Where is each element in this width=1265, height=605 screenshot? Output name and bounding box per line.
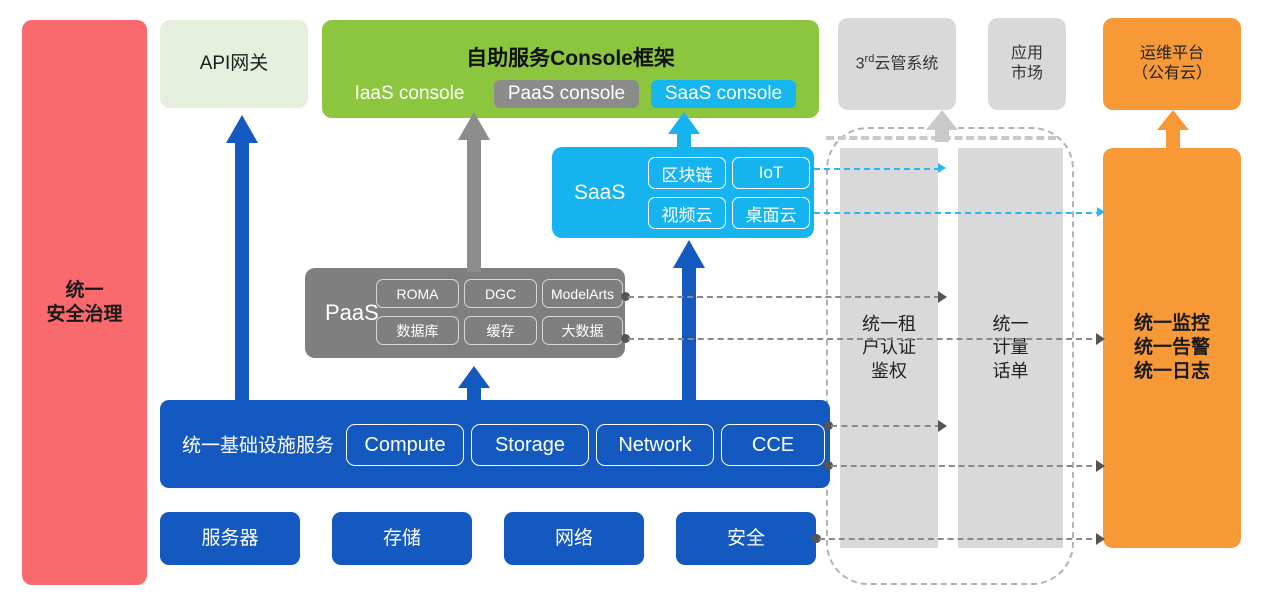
- paas-chip-dgc[interactable]: DGC: [464, 279, 537, 308]
- api-gateway-label: API网关: [200, 52, 269, 76]
- arrow-infra-to-api-gateway: [222, 115, 262, 405]
- paas-chip-database[interactable]: 数据库: [376, 316, 459, 345]
- third-party-cloud-mgmt-label: 3rd云管系统: [856, 53, 939, 74]
- unified-monitoring-label: 统一监控 统一告警 统一日志: [1134, 312, 1210, 383]
- dashed-flow-infra-to-tenant-auth: [831, 425, 941, 427]
- unified-infrastructure-label: 统一基础设施服务: [182, 431, 334, 458]
- infra-chip-compute[interactable]: Compute: [346, 424, 464, 466]
- paas-chip-cache[interactable]: 缓存: [464, 316, 537, 345]
- resource-box-server[interactable]: 服务器: [160, 512, 300, 565]
- app-market-box: 应用 市场: [988, 18, 1066, 110]
- ops-platform-box: 运维平台 （公有云）: [1103, 18, 1241, 110]
- saas-chip-video-cloud[interactable]: 视频云: [648, 197, 726, 229]
- cyan-flow-saas-to-ops-platform: [814, 212, 1102, 214]
- dashed-flow-infra-to-monitoring: [831, 465, 1102, 467]
- saas-console-chip[interactable]: SaaS console: [651, 80, 796, 108]
- api-gateway-box: API网关: [160, 20, 308, 108]
- dashed-flow-to-third-party: [826, 136, 1056, 140]
- paas-chip-bigdata[interactable]: 大数据: [542, 316, 623, 345]
- arrow-infra-to-saas: [669, 240, 709, 402]
- paas-layer-box: PaaS ROMA DGC ModelArts 数据库 缓存 大数据: [305, 268, 625, 358]
- saas-chip-desktop-cloud[interactable]: 桌面云: [732, 197, 810, 229]
- paas-chip-roma[interactable]: ROMA: [376, 279, 459, 308]
- self-service-console-frame: 自助服务Console框架 IaaS console PaaS console …: [322, 20, 819, 118]
- saas-layer-label: SaaS: [574, 181, 625, 205]
- infra-chip-storage[interactable]: Storage: [471, 424, 589, 466]
- cyan-flow-saas-to-tenant-auth: [814, 168, 940, 170]
- dashed-flow-paas-to-tenant-auth: [628, 296, 940, 298]
- ops-platform-label: 运维平台 （公有云）: [1132, 44, 1212, 84]
- unified-tenant-auth-column: 统一租 户认证 鉴权: [840, 148, 938, 548]
- infra-chip-cce[interactable]: CCE: [721, 424, 825, 466]
- unified-infrastructure-bar: 统一基础设施服务 Compute Storage Network CCE: [160, 400, 830, 488]
- app-market-label: 应用 市场: [1011, 44, 1043, 84]
- unified-metering-column: 统一 计量 话单: [958, 148, 1063, 548]
- dashed-arrowhead-paas-lower: [1096, 333, 1105, 345]
- paas-layer-label: PaaS: [325, 300, 379, 326]
- arrow-infra-to-paas: [455, 366, 493, 404]
- console-frame-title: 自助服务Console框架: [322, 42, 819, 72]
- resource-box-network[interactable]: 网络: [504, 512, 644, 565]
- arrow-paas-to-console: [454, 112, 494, 272]
- dashed-flow-paas-to-monitoring: [628, 338, 1102, 340]
- unified-security-governance-label: 统一 安全治理: [46, 279, 122, 327]
- saas-chip-blockchain[interactable]: 区块链: [648, 157, 726, 189]
- unified-metering-label: 统一 计量 话单: [993, 313, 1029, 383]
- dashed-flow-security-to-monitoring: [819, 538, 1102, 540]
- resource-box-security[interactable]: 安全: [676, 512, 816, 565]
- saas-layer-box: SaaS 区块链 IoT 视频云 桌面云: [552, 147, 814, 238]
- third-party-cloud-mgmt-box: 3rd云管系统: [838, 18, 956, 110]
- dashed-arrowhead-security: [1096, 533, 1105, 545]
- cyan-arrowhead-1: [938, 163, 946, 173]
- resource-box-storage[interactable]: 存储: [332, 512, 472, 565]
- unified-tenant-auth-label: 统一租 户认证 鉴权: [862, 313, 916, 383]
- dashed-arrowhead-infra-lower: [1096, 460, 1105, 472]
- architecture-diagram: 统一 安全治理 API网关 自助服务Console框架 IaaS console…: [0, 0, 1265, 605]
- saas-chip-iot[interactable]: IoT: [732, 157, 810, 189]
- cyan-arrowhead-2: [1097, 207, 1105, 217]
- arrow-to-ops-platform: [1155, 110, 1191, 148]
- dashed-arrowhead-paas-upper: [938, 291, 947, 303]
- infra-chip-network[interactable]: Network: [596, 424, 714, 466]
- arrow-saas-to-saas-console: [665, 112, 703, 152]
- unified-security-governance-panel: 统一 安全治理: [22, 20, 147, 585]
- paas-chip-modelarts[interactable]: ModelArts: [542, 279, 623, 308]
- unified-monitoring-panel: 统一监控 统一告警 统一日志: [1103, 148, 1241, 548]
- paas-console-chip[interactable]: PaaS console: [494, 80, 639, 108]
- dashed-arrowhead-infra-upper: [938, 420, 947, 432]
- iaas-console-chip[interactable]: IaaS console: [337, 80, 482, 108]
